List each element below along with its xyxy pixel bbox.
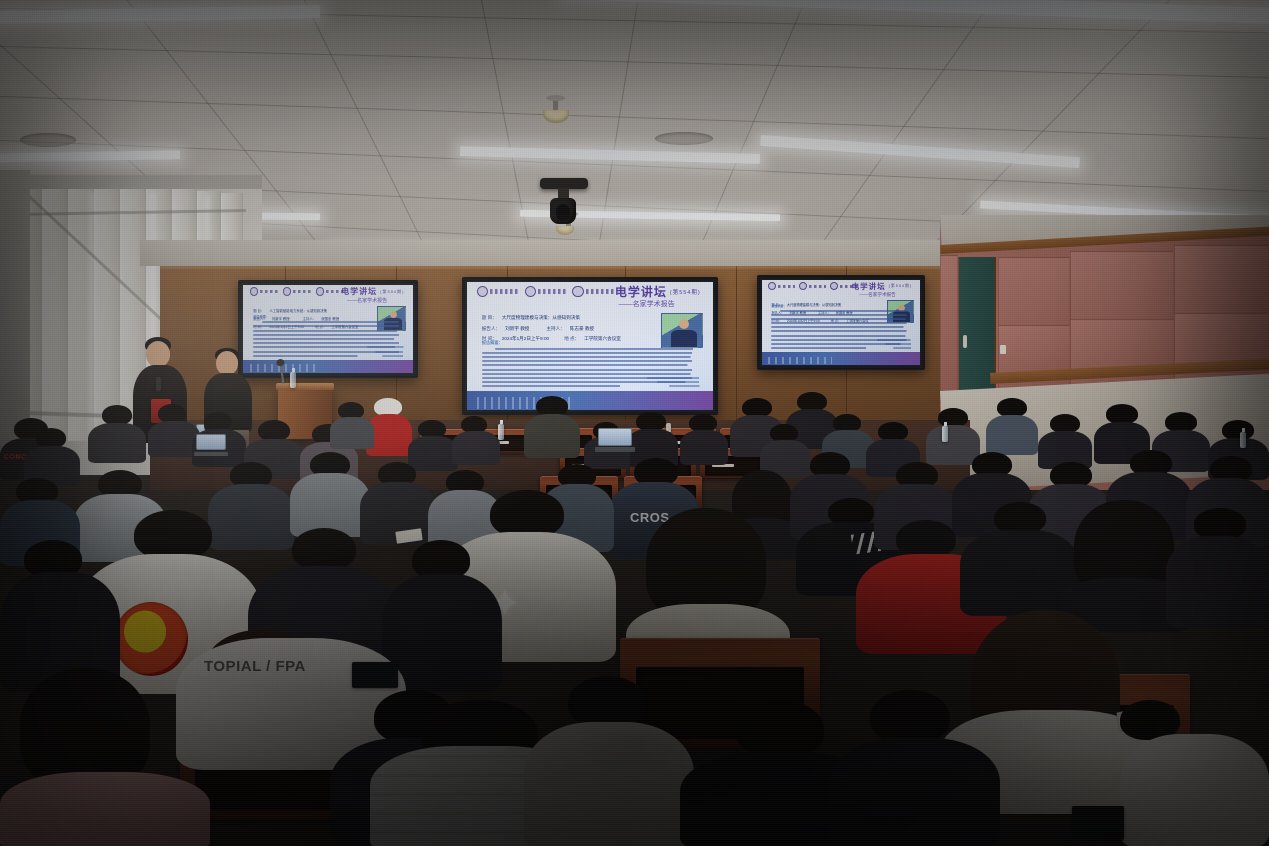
slide-title: 电学讲坛 — [852, 282, 886, 291]
projection-screen-center: 电学讲坛 (第554期) ——名家学术报告 题 目：大尺度物理建模与决策：从感知… — [462, 277, 718, 415]
audience-member — [24, 428, 80, 484]
water-bottle — [498, 424, 504, 440]
air-vent-icon — [20, 133, 76, 147]
slide-signature — [647, 377, 701, 390]
slide-skyline-graphic — [250, 364, 318, 372]
projection-screen-left: 电学讲坛 (第554期) ——名家学术报告 题 目：人工智能赋能电力系统：从感知… — [238, 280, 418, 378]
slide-subtitle: ——名家学术报告 — [844, 292, 910, 298]
water-bottle — [290, 372, 296, 388]
slide-field-label: 题 目： — [253, 308, 264, 313]
slide-field-value: 人工智能赋能电力系统：从感知到决策 — [269, 308, 327, 313]
audience-member — [680, 414, 728, 464]
audience-member — [1120, 700, 1269, 846]
wall-cornice — [140, 240, 970, 266]
audience-member — [1166, 508, 1269, 626]
audience-member — [330, 402, 374, 448]
slide-logo — [477, 286, 519, 298]
slide-title: 电学讲坛 — [341, 287, 377, 297]
slide-logo — [283, 288, 312, 296]
slide-field-label: 主持人： — [546, 326, 564, 332]
slide-logo — [525, 286, 567, 298]
slide-subtitle: ——名家学术报告 — [331, 297, 402, 303]
audience-member — [88, 405, 146, 461]
audience-member — [830, 690, 1000, 846]
jacket-text: TOPIAL / FPA — [204, 658, 306, 675]
air-vent-icon — [655, 132, 713, 145]
ceiling-light-strip — [0, 150, 180, 162]
slide-title: 电学讲坛 — [615, 285, 667, 299]
audience-member — [524, 396, 580, 456]
audience-member — [986, 398, 1038, 454]
water-bottle — [942, 426, 948, 442]
slide-field-value: 大尺度物理建模与决策：从感知到决策 — [502, 315, 580, 321]
audience-member — [290, 452, 370, 536]
smoke-detector-icon — [543, 110, 569, 123]
slide-logo — [768, 283, 795, 291]
slide-abstract-heading: 报告摘要： — [482, 340, 701, 346]
slide-skyline-graphic — [768, 357, 831, 365]
wall-switch[interactable] — [1000, 345, 1006, 354]
slide-title-note: (第554期) — [889, 284, 912, 289]
slide-field-label: 题 目： — [482, 315, 497, 321]
slide-abstract-heading: 报告摘要： — [771, 304, 912, 308]
slide-field-value: 陈志豪 教授 — [570, 326, 594, 332]
projection-screen-right: 电学讲坛 (第554期) ——名家学术报告 题 目：大尺度物理建模与决策：从感知… — [757, 275, 925, 370]
slide-logo — [250, 288, 279, 296]
lecture-hall-photo: 电学讲坛 (第554期) ——名家学术报告 题 目：人工智能赋能电力系统：从感知… — [0, 0, 1269, 846]
laptop[interactable] — [598, 428, 632, 452]
water-bottle — [1240, 432, 1246, 448]
slide-logo — [799, 283, 826, 291]
audience-member — [524, 676, 694, 846]
tablet[interactable] — [352, 662, 398, 688]
audience-member — [1038, 414, 1092, 468]
microphone-icon — [156, 377, 161, 391]
slide-title-note: (第554期) — [670, 288, 701, 296]
audience-member — [452, 416, 500, 464]
slide-title-note: (第554期) — [380, 289, 404, 295]
smoke-detector-icon — [556, 226, 574, 235]
slide-signature — [877, 339, 912, 352]
slide-signature — [367, 346, 404, 359]
slide-subtitle: ——名家学术报告 — [595, 300, 698, 309]
smartphone[interactable] — [1072, 806, 1124, 840]
slide-abstract-heading: 报告摘要： — [253, 314, 404, 319]
laptop[interactable] — [196, 434, 226, 456]
slide-field-value: 刘新宇 教授 — [505, 326, 529, 332]
slide-field-label: 报告人： — [482, 326, 500, 332]
security-camera-icon — [540, 178, 588, 226]
